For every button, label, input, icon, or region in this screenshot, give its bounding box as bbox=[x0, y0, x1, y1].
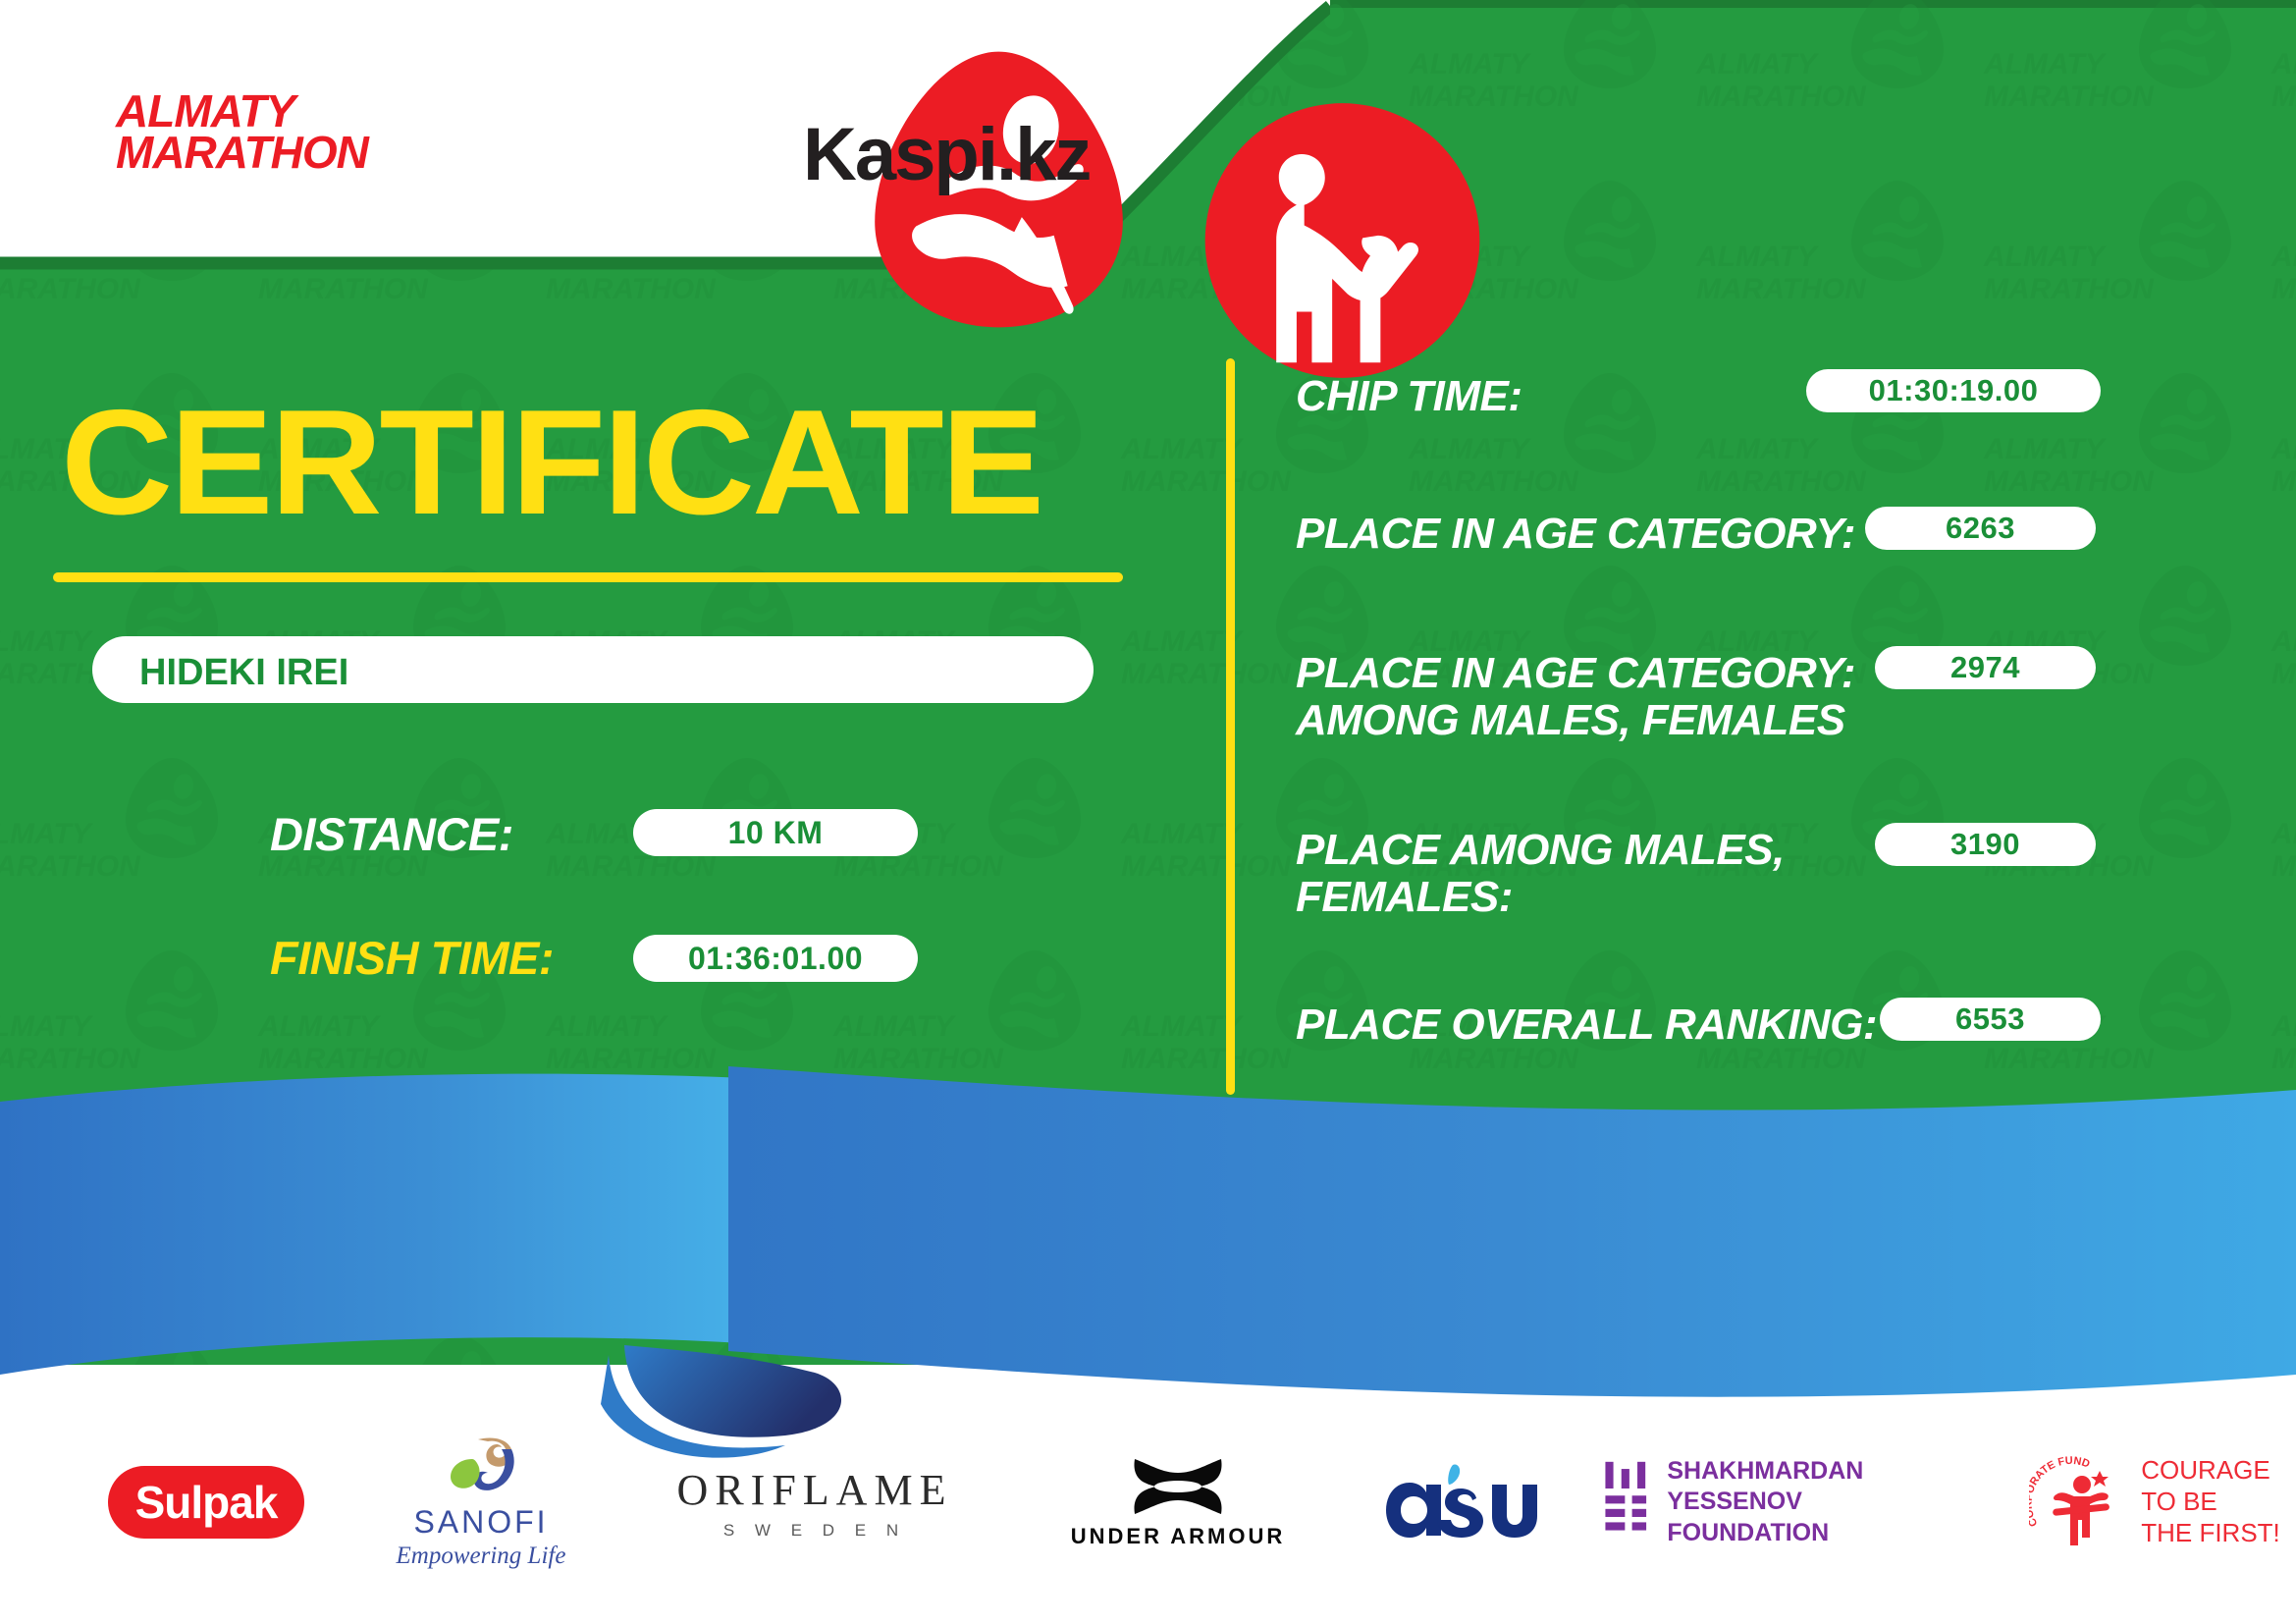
watermark-tile: ALMATYMARATHON bbox=[2262, 163, 2296, 330]
svg-text:MARATHON: MARATHON bbox=[1984, 273, 2155, 305]
sponsor-strip: Sulpak SANOFI Empowering Life ORIFLAME S… bbox=[0, 1414, 2296, 1600]
result-value-pill: 3190 bbox=[1875, 823, 2096, 866]
header-panel: ALMATY MARATHON Kaspi.kz bbox=[0, 0, 1330, 275]
asu-logo-icon bbox=[1374, 1459, 1551, 1545]
svg-text:ALMATY: ALMATY bbox=[2270, 1010, 2296, 1043]
athlete-name-value: HIDEKI IREI bbox=[139, 652, 348, 694]
watermark-tile: ALMATYMARATHON bbox=[2262, 0, 2296, 137]
yessenov-line-2: FOUNDATION bbox=[1667, 1518, 1973, 1548]
result-label: PLACE IN AGE CATEGORY: AMONG MALES, FEMA… bbox=[1296, 650, 1855, 743]
distance-label: DISTANCE: bbox=[270, 808, 513, 860]
svg-text:MARATHON: MARATHON bbox=[2271, 850, 2296, 883]
sponsor-asu bbox=[1364, 1414, 1561, 1591]
result-label: PLACE AMONG MALES, FEMALES: bbox=[1296, 827, 1785, 920]
svg-text:MARATHON: MARATHON bbox=[2271, 465, 2296, 498]
yessenov-line-1: SHAKHMARDAN YESSENOV bbox=[1667, 1456, 1973, 1518]
result-value: 6553 bbox=[1955, 1001, 2025, 1037]
finish-time-value-pill: 01:36:01.00 bbox=[633, 935, 918, 982]
finish-time-label: FINISH TIME: bbox=[270, 932, 554, 984]
courage-line-2: TO BE bbox=[2141, 1487, 2280, 1518]
watermark-tile: ALMATYMARATHON bbox=[2262, 740, 2296, 907]
result-value-pill: 01:30:19.00 bbox=[1806, 369, 2101, 412]
yessenov-label: SHAKHMARDAN YESSENOV FOUNDATION bbox=[1667, 1456, 1973, 1548]
kaspi-people-icon bbox=[677, 98, 787, 208]
result-value-pill: 6553 bbox=[1880, 998, 2101, 1041]
finish-time-value: 01:36:01.00 bbox=[688, 941, 863, 977]
distance-row: DISTANCE: bbox=[270, 807, 513, 861]
sulpak-label: Sulpak bbox=[135, 1477, 278, 1528]
svg-text:ALMATY: ALMATY bbox=[832, 1010, 957, 1043]
svg-text:ALMATY: ALMATY bbox=[1983, 433, 2108, 465]
result-label: PLACE IN AGE CATEGORY: bbox=[1296, 511, 1855, 558]
watermark-tile: ALMATYMARATHON bbox=[2262, 355, 2296, 522]
courage-line-1: COURAGE bbox=[2141, 1455, 2280, 1487]
almaty-marathon-logo: ALMATY MARATHON bbox=[116, 47, 440, 175]
sponsor-courage-fund: CORPORATE FUND COURAGE TO BE THE FIRST! bbox=[2022, 1414, 2287, 1591]
courage-line-3: THE FIRST! bbox=[2141, 1518, 2280, 1549]
oriflame-tagline: S W E D E N bbox=[723, 1521, 906, 1541]
svg-text:ALMATY: ALMATY bbox=[1408, 433, 1532, 465]
oriflame-label: ORIFLAME bbox=[677, 1465, 953, 1515]
svg-text:ALMATY: ALMATY bbox=[2270, 625, 2296, 658]
sanofi-label: SANOFI bbox=[413, 1504, 548, 1541]
result-label: CHIP TIME: bbox=[1296, 373, 1522, 420]
svg-text:ALMATY: ALMATY bbox=[1695, 433, 1820, 465]
kaspi-logo: Kaspi.kz bbox=[677, 98, 1090, 206]
athlete-name-field: HIDEKI IREI bbox=[92, 636, 1094, 703]
title-underline bbox=[53, 572, 1123, 582]
svg-text:MARATHON: MARATHON bbox=[0, 850, 141, 883]
sponsor-yessenov-foundation: SHAKHMARDAN YESSENOV FOUNDATION bbox=[1600, 1414, 1973, 1591]
svg-text:ALMATY: ALMATY bbox=[1695, 48, 1820, 81]
certificate-page: ALMATYMARATHONALMATYMARATHONALMATYMARATH… bbox=[0, 0, 2296, 1624]
almaty-marathon-wordmark: ALMATY MARATHON bbox=[116, 90, 379, 174]
logo-line-2: MARATHON bbox=[116, 132, 379, 173]
svg-text:MARATHON: MARATHON bbox=[1121, 465, 1292, 498]
finish-time-row: FINISH TIME: bbox=[270, 931, 554, 985]
svg-text:ALMATY: ALMATY bbox=[2270, 48, 2296, 81]
svg-text:MARATHON: MARATHON bbox=[1696, 465, 1867, 498]
result-value-pill: 2974 bbox=[1875, 646, 2096, 689]
svg-text:MARATHON: MARATHON bbox=[1409, 465, 1579, 498]
sanofi-icon bbox=[443, 1435, 519, 1500]
page-title: CERTIFICATE bbox=[61, 388, 1041, 537]
under-armour-label: UNDER ARMOUR bbox=[1071, 1524, 1286, 1549]
svg-text:ALMATY: ALMATY bbox=[0, 625, 94, 658]
svg-text:ALMATY: ALMATY bbox=[1983, 48, 2108, 81]
watermark-tile: ALMATYMARATHON bbox=[1974, 548, 2269, 715]
svg-text:MARATHON: MARATHON bbox=[2271, 81, 2296, 113]
sulpak-badge: Sulpak bbox=[108, 1466, 305, 1539]
result-value: 6263 bbox=[1946, 511, 2015, 546]
sponsor-under-armour: UNDER ARMOUR bbox=[1065, 1414, 1291, 1591]
watermark-tile: ALMATYMARATHON bbox=[1974, 163, 2269, 330]
courage-fund-icon: CORPORATE FUND bbox=[2029, 1451, 2131, 1553]
column-divider bbox=[1226, 358, 1235, 1095]
yessenov-icon bbox=[1600, 1460, 1653, 1544]
svg-text:ALMATY: ALMATY bbox=[2270, 241, 2296, 273]
svg-text:MARATHON: MARATHON bbox=[1121, 850, 1292, 883]
sponsor-oriflame: ORIFLAME S W E D E N bbox=[667, 1414, 962, 1591]
svg-text:MARATHON: MARATHON bbox=[1984, 81, 2155, 113]
result-value: 01:30:19.00 bbox=[1869, 373, 2039, 408]
result-value: 3190 bbox=[1950, 827, 2020, 862]
watermark-tile: ALMATYMARATHON bbox=[0, 740, 255, 907]
logo-line-1: ALMATY bbox=[116, 90, 379, 132]
svg-text:ALMATY: ALMATY bbox=[545, 1010, 669, 1043]
sanofi-tagline: Empowering Life bbox=[397, 1543, 566, 1570]
distance-value: 10 KM bbox=[728, 815, 824, 851]
svg-text:ALMATY: ALMATY bbox=[0, 818, 94, 850]
result-value-pill: 6263 bbox=[1865, 507, 2096, 550]
distance-value-pill: 10 KM bbox=[633, 809, 918, 856]
result-label: PLACE OVERALL RANKING: bbox=[1296, 1001, 1877, 1049]
svg-text:MARATHON: MARATHON bbox=[1121, 658, 1292, 690]
courage-fund-label: COURAGE TO BE THE FIRST! bbox=[2141, 1455, 2280, 1548]
svg-text:MARATHON: MARATHON bbox=[1984, 465, 2155, 498]
watermark-tile: ALMATYMARATHON bbox=[2262, 548, 2296, 715]
watermark-tile: ALMATYMARATHON bbox=[1974, 0, 2269, 137]
under-armour-icon bbox=[1125, 1455, 1231, 1518]
sponsor-sanofi: SANOFI Empowering Life bbox=[373, 1414, 589, 1591]
svg-text:ALMATY: ALMATY bbox=[0, 1010, 94, 1043]
svg-text:MARATHON: MARATHON bbox=[2271, 273, 2296, 305]
svg-text:ALMATY: ALMATY bbox=[2270, 818, 2296, 850]
result-value: 2974 bbox=[1950, 650, 2020, 685]
svg-text:ALMATY: ALMATY bbox=[257, 1010, 382, 1043]
svg-text:MARATHON: MARATHON bbox=[2271, 658, 2296, 690]
kaspi-wordmark: Kaspi.kz bbox=[803, 112, 1090, 197]
sponsor-sulpak: Sulpak bbox=[93, 1414, 319, 1591]
svg-text:ALMATY: ALMATY bbox=[2270, 433, 2296, 465]
